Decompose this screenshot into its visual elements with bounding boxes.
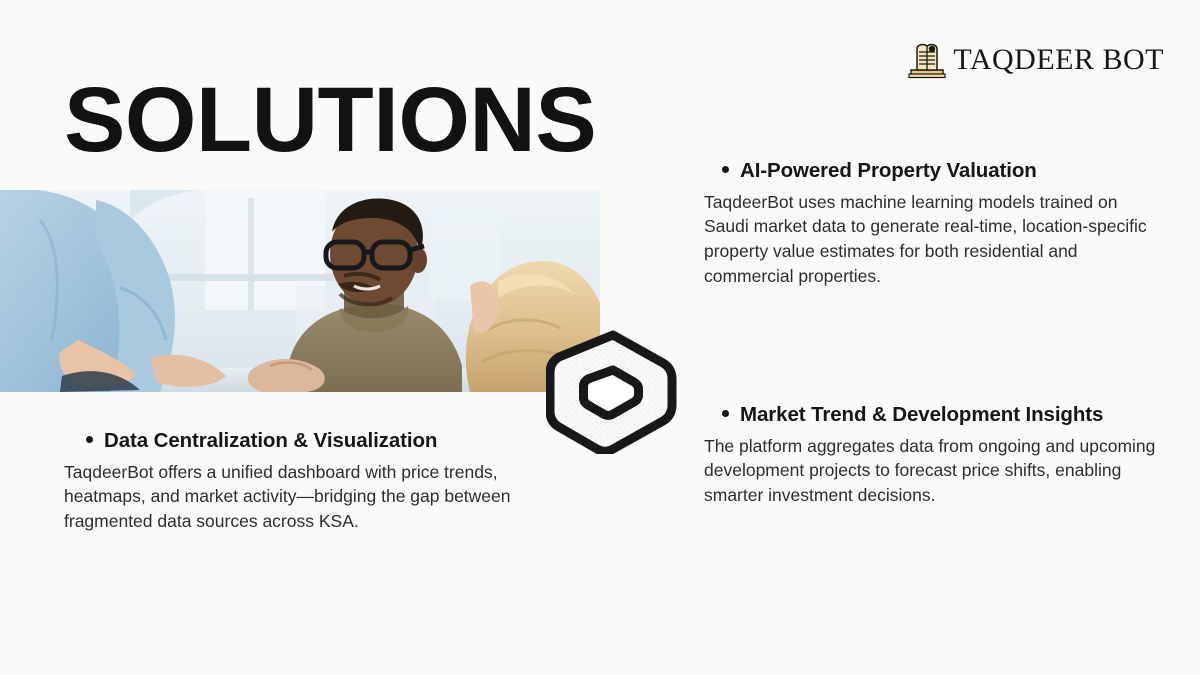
brand-logo: TAQDEER BOT — [905, 38, 1164, 82]
feature-body: TaqdeerBot uses machine learning models … — [704, 190, 1156, 289]
feature-title-text: Market Trend & Development Insights — [740, 402, 1103, 428]
brand-name: TAQDEER BOT — [953, 45, 1164, 75]
slide-canvas: TAQDEER BOT SOLUTIONS — [0, 0, 1200, 675]
feature-body: TaqdeerBot offers a unified dashboard wi… — [64, 460, 584, 535]
feature-title-text: Data Centralization & Visualization — [104, 428, 437, 454]
bullet-dot-icon — [722, 410, 729, 417]
feature-title: AI-Powered Property Valuation — [704, 158, 1156, 184]
feature-market-trend-development-insights: Market Trend & Development Insights The … — [704, 402, 1164, 508]
feature-ai-powered-property-valuation: AI-Powered Property Valuation TaqdeerBot… — [704, 158, 1156, 289]
bullet-dot-icon — [86, 436, 93, 443]
feature-title: Data Centralization & Visualization — [64, 428, 584, 454]
feature-title-text: AI-Powered Property Valuation — [740, 158, 1037, 184]
feature-data-centralization-visualization: Data Centralization & Visualization Taqd… — [64, 428, 584, 534]
bullet-dot-icon — [722, 166, 729, 173]
feature-body: The platform aggregates data from ongoin… — [704, 434, 1164, 509]
book-stack-icon — [905, 40, 949, 80]
page-title: SOLUTIONS — [64, 74, 596, 166]
team-meeting-photo — [0, 190, 600, 392]
feature-title: Market Trend & Development Insights — [704, 402, 1164, 428]
